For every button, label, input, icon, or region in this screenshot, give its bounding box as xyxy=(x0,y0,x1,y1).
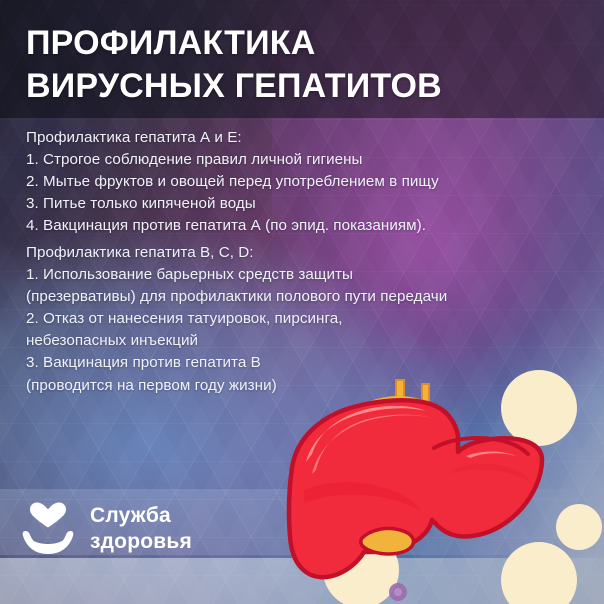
list-item: 1. Использование барьерных средств защит… xyxy=(26,264,447,286)
list-item: 3. Питье только кипяченой воды xyxy=(26,193,439,215)
section-heading: Профилактика гепатита А и Е: xyxy=(26,127,439,149)
heart-smile-icon xyxy=(18,500,78,558)
list-item: 3. Вакцинация против гепатита В xyxy=(26,352,447,374)
section-hepatitis-bcd: Профилактика гепатита В, С, D: 1. Исполь… xyxy=(26,242,447,397)
list-item: 4. Вакцинация против гепатита А (по эпид… xyxy=(26,215,439,237)
infographic-poster: ПРОФИЛАКТИКА ВИРУСНЫХ ГЕПАТИТОВ Профилак… xyxy=(0,0,604,604)
section-hepatitis-ae: Профилактика гепатита А и Е: 1. Строгое … xyxy=(26,127,439,237)
list-item: 2. Мытье фруктов и овощей перед употребл… xyxy=(26,171,439,193)
list-item: 1. Строгое соблюдение правил личной гиги… xyxy=(26,149,439,171)
text-content: ПРОФИЛАКТИКА ВИРУСНЫХ ГЕПАТИТОВ Профилак… xyxy=(0,0,604,604)
section-heading: Профилактика гепатита В, С, D: xyxy=(26,242,447,264)
list-item: (проводится на первом году жизни) xyxy=(26,375,447,397)
list-item: 2. Отказ от нанесения татуировок, пирсин… xyxy=(26,308,447,330)
list-item: небезопасных инъекций xyxy=(26,330,447,352)
brand-name: Служба здоровья xyxy=(90,503,192,554)
brand-logo: Служба здоровья xyxy=(18,500,192,558)
list-item: (презервативы) для профилактики полового… xyxy=(26,286,447,308)
page-title: ПРОФИЛАКТИКА ВИРУСНЫХ ГЕПАТИТОВ xyxy=(26,22,442,108)
